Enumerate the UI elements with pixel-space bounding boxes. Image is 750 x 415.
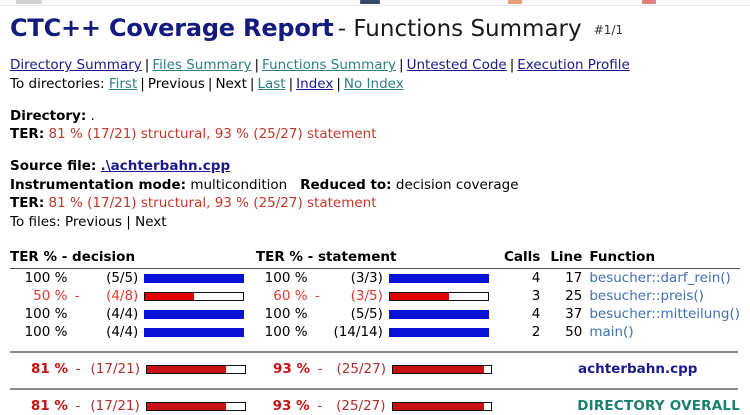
nav-separator: | [247,76,258,92]
cell-line: 17 [548,269,589,288]
directory-ter-value: 81 % (17/21) structural, 93 % (25/27) st… [49,126,377,142]
cell-statement-fraction: (5/5) [323,305,389,323]
cell-function: main() [589,323,740,341]
cell-decision-dash [71,323,83,341]
summary-statement-percent: 93 % [258,397,314,415]
source-ter-line: TER: 81 % (17/21) structural, 93 % (25/2… [10,194,740,213]
nav-link-last[interactable]: Last [257,76,285,92]
summary-area: 81 %-(17/21)93 %-(25/27)achterbahn.cpp81… [10,351,740,415]
directory-overall-label: DIRECTORY OVERALL [577,397,740,415]
nav-link-untested-code[interactable]: Untested Code [407,57,507,73]
nav-link-no-index[interactable]: No Index [344,76,404,92]
summary-decision-bar-cell [146,360,258,378]
cell-statement-bar [389,269,501,288]
summary-decision-fraction: (17/21) [84,360,146,378]
cell-decision-bar [144,269,256,288]
report-title-sub: - Functions Summary [338,16,582,42]
instrumentation-line: Instrumentation mode: multicondition Red… [10,176,740,195]
cell-statement-percent: 100 % [256,305,312,323]
cell-function: besucher::preis() [589,287,740,305]
decision-coverage-bar [144,328,244,337]
directory-ter-label: TER: [10,126,44,142]
function-link[interactable]: besucher::preis() [589,288,704,304]
nav-link-execution-profile[interactable]: Execution Profile [517,57,630,73]
cell-statement-dash [312,323,324,341]
cell-statement-dash: - [312,287,324,305]
cell-statement-fraction: (3/3) [323,269,389,288]
function-link[interactable]: besucher::mitteilung() [589,306,740,322]
decision-coverage-bar [144,310,244,319]
nav-link-functions-summary[interactable]: Functions Summary [262,57,396,73]
summary-file-name: achterbahn.cpp [578,360,740,378]
instrumentation-mode-value: multicondition [190,177,287,193]
nav-separator: | [507,57,518,73]
nav-separator: | [142,57,153,73]
cell-statement-fraction: (3/5) [323,287,389,305]
nav-link-index[interactable]: Index [296,76,333,92]
summary-spacer [503,397,577,415]
nav-separator: | [251,57,262,73]
statement-coverage-bar [389,328,489,337]
chrome-tab-mark-3 [508,0,522,4]
cell-statement-dash [312,305,324,323]
cell-line: 37 [548,305,589,323]
source-file-info: Source file: .\achterbahn.cpp Instrument… [10,157,740,232]
nav-link-files-summary[interactable]: Files Summary [152,57,251,73]
summary-statement-dash: - [314,397,326,415]
cell-decision-dash [71,269,83,288]
nav-separator: | [205,76,216,92]
table-header-row: TER % - decision TER % - statement Calls… [10,249,740,269]
cell-statement-bar [389,323,501,341]
column-header-decision: TER % - decision [10,249,256,269]
nav-link-directory-summary[interactable]: Directory Summary [10,57,142,73]
summary-divider [10,388,738,390]
summary-divider [10,351,738,353]
column-header-function: Function [589,249,740,269]
reduced-to-value: decision coverage [396,177,519,193]
functions-table: TER % - decision TER % - statement Calls… [10,249,740,341]
cell-decision-dash: - [71,287,83,305]
summary-statement-fraction: (25/27) [326,360,392,378]
cell-statement-percent: 100 % [256,269,312,288]
chrome-tab-mark-4 [642,0,656,4]
column-header-line: Line [548,249,589,269]
reduced-to-label: Reduced to: [300,177,391,193]
table-row: 100 %(5/5)100 %(3/3)417besucher::darf_re… [10,269,740,288]
summary-block: 81 %-(17/21)93 %-(25/27)achterbahn.cpp [10,351,740,378]
column-header-calls: Calls [500,249,548,269]
table-row: 50 %-(4/8)60 %-(3/5)325besucher::preis() [10,287,740,305]
summary-statement-fraction: (25/27) [326,397,392,415]
cell-calls: 3 [500,287,548,305]
chrome-tab-mark-2 [360,0,380,4]
summary-table: 81 %-(17/21)93 %-(25/27)achterbahn.cpp [10,360,740,378]
summary-row: 81 %-(17/21)93 %-(25/27)DIRECTORY OVERAL… [10,397,740,415]
report-page: CTC++ Coverage Report - Functions Summar… [0,7,750,412]
summary-decision-percent: 81 % [10,360,72,378]
cell-decision-fraction: (4/4) [83,323,144,341]
decision-coverage-bar [144,274,244,283]
summary-decision-dash: - [72,360,84,378]
cell-decision-percent: 100 % [10,305,71,323]
cell-decision-percent: 100 % [10,323,71,341]
to-files-links: Previous | Next [65,214,167,230]
page-title: CTC++ Coverage Report - Functions Summar… [10,7,740,42]
cell-statement-percent: 60 % [256,287,312,305]
cell-decision-percent: 50 % [10,287,71,305]
summary-statement-percent: 93 % [258,360,314,378]
summary-decision-bar [146,402,246,411]
summary-statement-bar [392,402,492,411]
report-title-main: CTC++ Coverage Report [10,14,334,42]
source-ter-label: TER: [10,195,44,211]
decision-coverage-bar [144,292,244,301]
browser-chrome-sliver [0,0,750,6]
to-directories-label: To directories: [10,76,105,92]
column-header-statement: TER % - statement [256,249,501,269]
cell-line: 25 [548,287,589,305]
table-row: 100 %(4/4)100 %(5/5)437besucher::mitteil… [10,305,740,323]
summary-table: 81 %-(17/21)93 %-(25/27)DIRECTORY OVERAL… [10,397,740,415]
nav-separator: | [333,76,344,92]
summary-decision-bar-cell [146,397,258,415]
source-file-link[interactable]: .\achterbahn.cpp [101,158,231,174]
cell-decision-fraction: (4/4) [83,305,144,323]
summary-statement-bar-cell [392,360,504,378]
directory-info: Directory: . TER: 81 % (17/21) structura… [10,107,740,144]
source-ter-value: 81 % (17/21) structural, 93 % (25/27) st… [49,195,377,211]
directory-line: Directory: . [10,107,740,126]
directory-value: . [91,108,95,124]
primary-nav: Directory Summary|Files Summary|Function… [10,56,740,74]
nav-separator: | [286,76,297,92]
nav-link-first[interactable]: First [109,76,137,92]
cell-statement-bar [389,287,501,305]
function-link[interactable]: main() [589,324,633,340]
nav-link-next: Next [215,76,246,92]
page-index-label: #1/1 [586,23,623,37]
cell-statement-percent: 100 % [256,323,312,341]
source-file-label: Source file: [10,158,96,174]
to-files-line: To files: Previous | Next [10,213,740,232]
summary-decision-percent: 81 % [10,397,72,415]
chrome-tab-mark-1 [16,0,42,4]
cell-decision-dash [71,305,83,323]
summary-spacer [504,360,578,378]
summary-block: 81 %-(17/21)93 %-(25/27)DIRECTORY OVERAL… [10,388,740,415]
summary-row: 81 %-(17/21)93 %-(25/27)achterbahn.cpp [10,360,740,378]
statement-coverage-bar [389,274,489,283]
statement-coverage-bar [389,310,489,319]
directory-ter-line: TER: 81 % (17/21) structural, 93 % (25/2… [10,125,740,144]
cell-decision-bar [144,305,256,323]
cell-function: besucher::darf_rein() [589,269,740,288]
cell-decision-bar [144,287,256,305]
nav-link-previous: Previous [148,76,205,92]
directory-label: Directory: [10,108,86,124]
cell-decision-fraction: (4/8) [83,287,144,305]
cell-calls: 4 [500,305,548,323]
cell-statement-bar [389,305,501,323]
to-files-label: To files: [10,214,61,230]
instrumentation-mode-label: Instrumentation mode: [10,177,186,193]
cell-calls: 2 [500,323,548,341]
summary-statement-bar [392,365,492,374]
cell-decision-fraction: (5/5) [83,269,144,288]
cell-calls: 4 [500,269,548,288]
summary-statement-bar-cell [392,397,504,415]
summary-decision-dash: - [72,397,84,415]
nav-separator: | [137,76,148,92]
functions-table-body: 100 %(5/5)100 %(3/3)417besucher::darf_re… [10,269,740,342]
cell-function: besucher::mitteilung() [589,305,740,323]
cell-statement-fraction: (14/14) [323,323,389,341]
nav-separator: | [396,57,407,73]
summary-decision-fraction: (17/21) [84,397,146,415]
summary-statement-dash: - [314,360,326,378]
cell-line: 50 [548,323,589,341]
function-link[interactable]: besucher::darf_rein() [589,270,730,286]
cell-statement-dash [312,269,324,288]
table-row: 100 %(4/4)100 %(14/14)250main() [10,323,740,341]
directories-nav: To directories: First|Previous|Next|Last… [10,75,740,93]
summary-decision-bar [146,365,246,374]
source-file-line: Source file: .\achterbahn.cpp [10,157,740,176]
cell-decision-bar [144,323,256,341]
statement-coverage-bar [389,292,489,301]
cell-decision-percent: 100 % [10,269,71,288]
